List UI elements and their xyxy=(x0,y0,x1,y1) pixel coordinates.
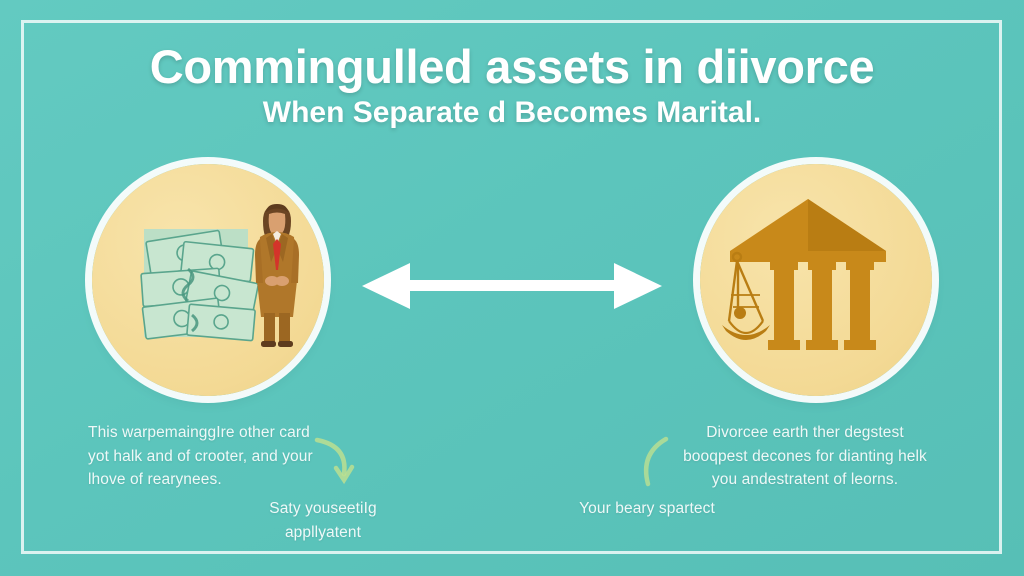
arrow-head-right xyxy=(614,263,662,309)
double-headed-arrow-icon xyxy=(362,263,662,309)
curved-arc-icon xyxy=(636,434,676,490)
businessman-icon xyxy=(246,201,308,349)
courthouse-icon xyxy=(716,195,894,367)
page-subtitle: When Separate d Becomes Marital. xyxy=(0,96,1024,130)
right-caption-secondary: Your beary spartect xyxy=(572,497,722,521)
scales-of-justice-icon xyxy=(729,253,763,333)
infographic-canvas: Commingulled assets in diivorce When Sep… xyxy=(0,0,1024,576)
left-caption-primary: This warpemainggIre other card yot halk … xyxy=(88,421,333,492)
left-caption-secondary: Saty youseetiIg appllyatent xyxy=(238,497,408,544)
arrow-shaft xyxy=(408,280,616,291)
arrow-head-left xyxy=(362,263,410,309)
right-caption-primary: Divorcee earth ther degstest booqpest de… xyxy=(676,421,934,492)
page-title: Commingulled assets in diivorce xyxy=(0,42,1024,92)
money-stack-icon xyxy=(130,219,262,347)
